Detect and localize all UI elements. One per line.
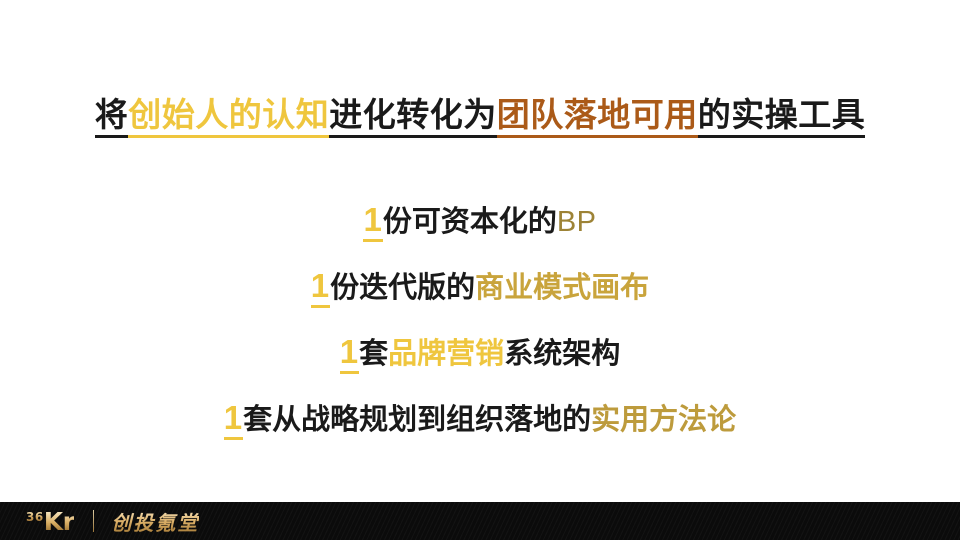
deliverables-list: 1份可资本化的BP1份迭代版的商业模式画布1套品牌营销系统架构1套从战略规划到组… xyxy=(0,188,960,452)
title-segment-4: 的实操工具 xyxy=(698,96,866,138)
title-segment-0: 将 xyxy=(95,96,129,138)
line-brand-marketing: 1套品牌营销系统架构 xyxy=(0,320,960,386)
line-bp-segment-2: BP xyxy=(557,206,597,238)
brand-logo-superscript: 36 xyxy=(26,511,44,523)
line-business-model-canvas: 1份迭代版的商业模式画布 xyxy=(0,254,960,320)
slide-canvas: 将创始人的认知进化转化为团队落地可用的实操工具 1份可资本化的BP1份迭代版的商… xyxy=(0,0,960,540)
page-title: 将创始人的认知进化转化为团队落地可用的实操工具 xyxy=(95,94,866,136)
line-methodology-segment-1: 套从战略规划到组织落地的 xyxy=(243,404,591,436)
line-brand-marketing-segment-0: 1 xyxy=(340,333,359,374)
line-methodology: 1套从战略规划到组织落地的实用方法论 xyxy=(0,386,960,452)
line-brand-marketing-segment-3: 系统架构 xyxy=(504,338,620,370)
footer-bar: 36 Kr 创投氪堂 xyxy=(0,502,960,540)
line-bp-segment-1: 份可资本化的 xyxy=(383,206,557,238)
line-brand-marketing-segment-1: 套 xyxy=(359,338,388,370)
slide-title-block: 将创始人的认知进化转化为团队落地可用的实操工具 xyxy=(0,94,960,136)
line-bp: 1份可资本化的BP xyxy=(0,188,960,254)
title-segment-2: 进化转化为 xyxy=(329,96,497,138)
line-methodology-segment-2: 实用方法论 xyxy=(591,404,736,436)
line-business-model-canvas-segment-0: 1 xyxy=(311,267,330,308)
line-methodology-segment-0: 1 xyxy=(224,399,243,440)
line-brand-marketing-segment-2: 品牌营销 xyxy=(388,338,504,370)
brand-logo-36kr: 36 Kr xyxy=(26,509,74,534)
brand-logo-main: Kr xyxy=(44,509,75,534)
line-business-model-canvas-segment-2: 商业模式画布 xyxy=(475,272,649,304)
footer-sub-brand: 创投氪堂 xyxy=(111,507,199,536)
line-bp-segment-0: 1 xyxy=(363,201,382,242)
title-segment-1: 创始人的认知 xyxy=(128,96,329,138)
footer-divider xyxy=(93,510,94,532)
title-segment-3: 团队落地可用 xyxy=(497,96,698,138)
line-business-model-canvas-segment-1: 份迭代版的 xyxy=(330,272,475,304)
